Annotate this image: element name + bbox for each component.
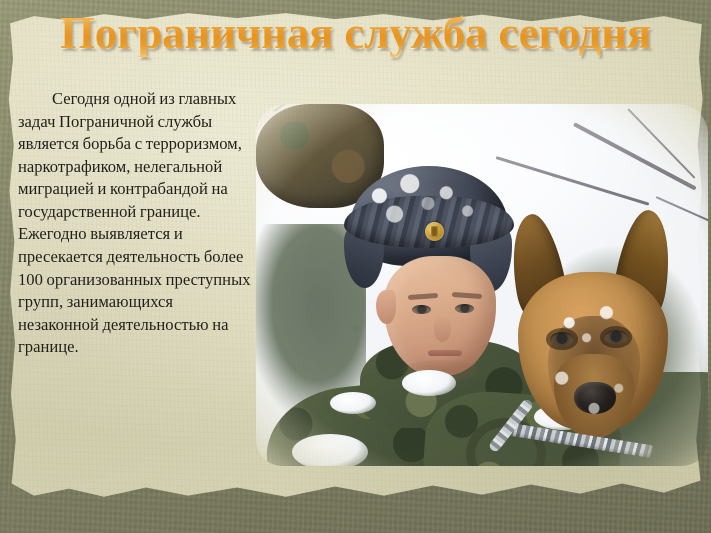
dog-nose: [574, 382, 616, 414]
title-container: Пограничная служба сегодня: [0, 10, 711, 57]
service-dog-figure: [256, 104, 708, 466]
dog-eye-left: [550, 332, 574, 346]
body-paragraph: Сегодня одной из главных задач Пограничн…: [18, 88, 256, 359]
slide: Пограничная служба сегодня Сегодня одной…: [0, 0, 711, 533]
slide-photo: [256, 104, 708, 466]
dog-eye-right: [604, 330, 628, 344]
page-title: Пограничная служба сегодня: [60, 10, 651, 57]
photo-inner: [256, 104, 708, 466]
